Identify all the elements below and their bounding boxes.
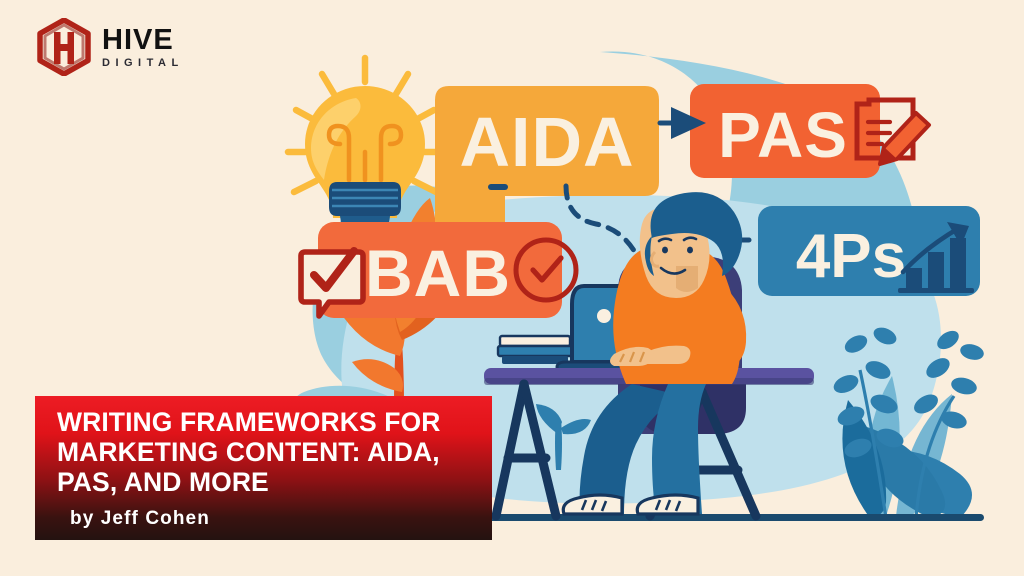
framework-label-pas: PAS (718, 99, 848, 171)
brand-logo[interactable]: HIVE DIGITAL (36, 18, 256, 76)
social-share-card: AIDA PAS BAB (0, 0, 1024, 576)
hive-hexagon-h-logo (36, 18, 92, 76)
desk-books (498, 336, 572, 364)
brand-tagline: DIGITAL (102, 58, 184, 69)
brand-name: HIVE (102, 26, 184, 55)
page-title: WRITING FRAMEWORKS FOR MARKETING CONTENT… (57, 408, 482, 498)
framework-label-bab: BAB (365, 236, 511, 310)
framework-label-4ps: 4Ps (796, 222, 906, 291)
byline-author: by Jeff Cohen (70, 508, 210, 530)
framework-label-aida: AIDA (459, 103, 634, 181)
